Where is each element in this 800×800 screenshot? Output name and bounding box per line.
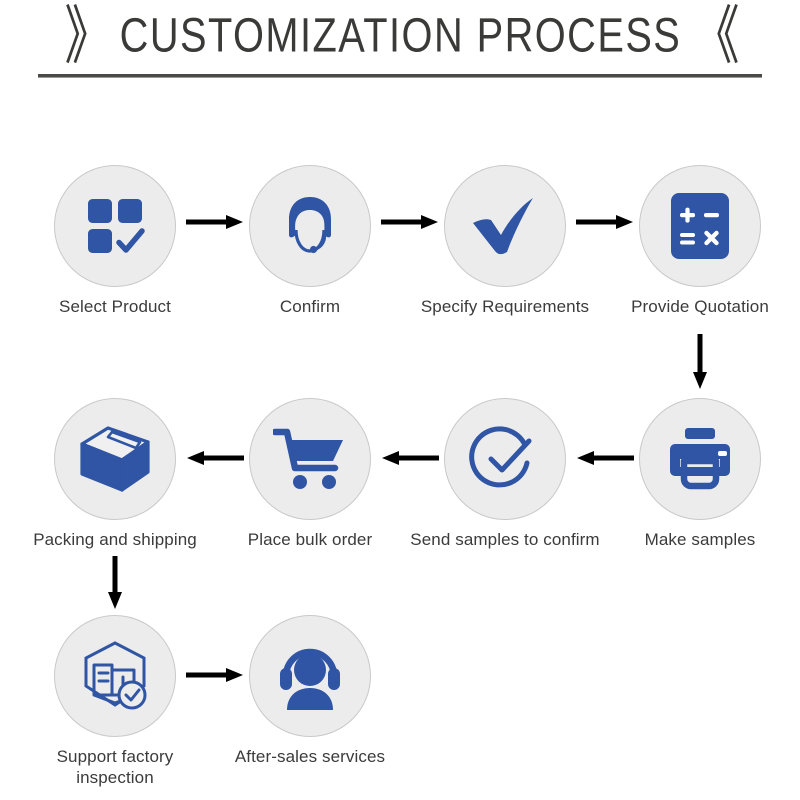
step-icon-circle <box>444 165 566 287</box>
step-icon-circle <box>639 398 761 520</box>
operator-headset-icon <box>274 190 346 262</box>
package-box-icon <box>78 424 152 494</box>
connector-arrow-left <box>186 450 244 466</box>
printer-icon <box>665 426 735 492</box>
connector-arrow-down <box>107 556 123 610</box>
process-step-place-bulk-order[interactable]: Place bulk order <box>215 398 405 550</box>
process-step-provide-quotation[interactable]: Provide Quotation <box>605 165 795 317</box>
step-label: Send samples to confirm <box>410 529 600 550</box>
connector-arrow-right <box>576 214 634 230</box>
shopping-cart-icon <box>273 426 347 492</box>
step-label: After-sales services <box>215 746 405 767</box>
step-label: Support factory inspection <box>20 746 210 789</box>
process-step-confirm[interactable]: Confirm <box>215 165 405 317</box>
step-icon-circle <box>54 615 176 737</box>
checkmark-icon <box>469 193 541 259</box>
process-step-make-samples[interactable]: Make samples <box>605 398 795 550</box>
title-row: 》CUSTOMIZATION PROCESS《 <box>0 12 800 59</box>
process-step-packing-and-shipping[interactable]: Packing and shipping <box>20 398 210 550</box>
step-label: Confirm <box>215 296 405 317</box>
connector-arrow-right <box>186 214 244 230</box>
process-step-support-factory-inspection[interactable]: Support factory inspection <box>20 615 210 789</box>
page-header: 》CUSTOMIZATION PROCESS《 <box>0 0 800 90</box>
connector-arrow-down <box>692 334 708 390</box>
title-divider <box>38 74 762 78</box>
step-label: Select Product <box>20 296 210 317</box>
process-step-send-samples-to-confirm[interactable]: Send samples to confirm <box>410 398 600 550</box>
chevron-right-double-icon: 》 <box>65 4 108 67</box>
calculator-icon <box>669 191 731 261</box>
step-icon-circle <box>444 398 566 520</box>
step-icon-circle <box>249 398 371 520</box>
connector-arrow-right <box>381 214 439 230</box>
step-label: Place bulk order <box>215 529 405 550</box>
step-label: Packing and shipping <box>20 529 210 550</box>
factory-shield-check-icon <box>78 640 152 712</box>
process-step-select-product[interactable]: Select Product <box>20 165 210 317</box>
grid-check-icon <box>82 193 148 259</box>
step-icon-circle <box>249 615 371 737</box>
step-label: Make samples <box>605 529 795 550</box>
process-step-specify-requirements[interactable]: Specify Requirements <box>410 165 600 317</box>
step-icon-circle <box>639 165 761 287</box>
connector-arrow-right <box>186 667 244 683</box>
circle-check-icon <box>469 423 541 495</box>
step-label: Specify Requirements <box>410 296 600 317</box>
process-step-after-sales-services[interactable]: After-sales services <box>215 615 405 767</box>
connector-arrow-left <box>381 450 439 466</box>
chevron-left-double-icon: 《 <box>692 4 735 67</box>
connector-arrow-left <box>576 450 634 466</box>
step-icon-circle <box>249 165 371 287</box>
headset-person-icon <box>273 642 347 710</box>
step-icon-circle <box>54 165 176 287</box>
page-title: CUSTOMIZATION PROCESS <box>119 11 681 59</box>
step-label: Provide Quotation <box>605 296 795 317</box>
step-icon-circle <box>54 398 176 520</box>
